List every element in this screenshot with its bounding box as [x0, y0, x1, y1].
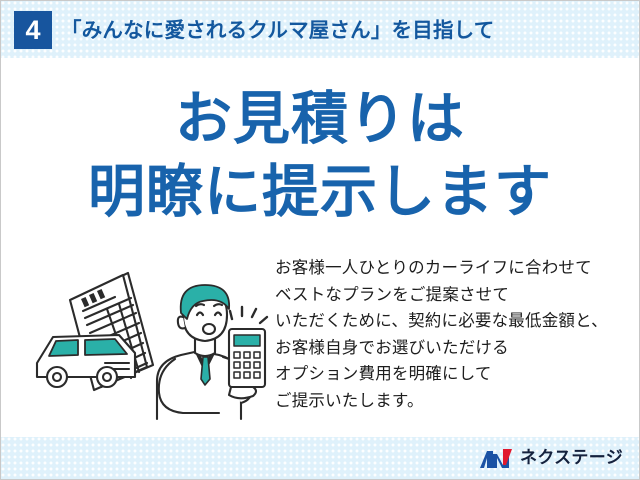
body-copy-line-1: お客様一人ひとりのカーライフに合わせて	[275, 255, 635, 282]
brand-name: ネクステージ	[520, 446, 623, 470]
body-copy-line-2: ベストなプランをご提案させて	[275, 282, 635, 309]
body-copy-line-3: いただくために、契約に必要な最低金額と、	[275, 308, 635, 335]
body-copy-line-4: お客様自身でお選びいただける	[275, 335, 635, 362]
body-copy: お客様一人ひとりのカーライフに合わせて ベストなプランをご提案させて いただくた…	[275, 255, 635, 414]
section-number-badge: 4	[14, 11, 52, 49]
body-copy-line-6: ご提示いたします。	[275, 388, 635, 415]
brand-logo: ネクステージ	[479, 446, 623, 470]
headline: お見積りは 明瞭に提示します	[1, 83, 639, 229]
headline-line-2: 明瞭に提示します	[1, 156, 639, 229]
sparkle-icon	[230, 307, 267, 323]
headline-line-1: お見積りは	[1, 83, 639, 156]
sales-staff-illustration	[23, 253, 273, 423]
advertisement-banner: 4 「みんなに愛されるクルマ屋さん」を目指して お見積りは 明瞭に提示します お…	[0, 0, 640, 480]
body-copy-line-5: オプション費用を明確にして	[275, 361, 635, 388]
header-title: 「みんなに愛されるクルマ屋さん」を目指して	[61, 15, 494, 47]
nextage-n-mark-icon	[479, 448, 513, 469]
calculator-icon	[229, 329, 265, 387]
